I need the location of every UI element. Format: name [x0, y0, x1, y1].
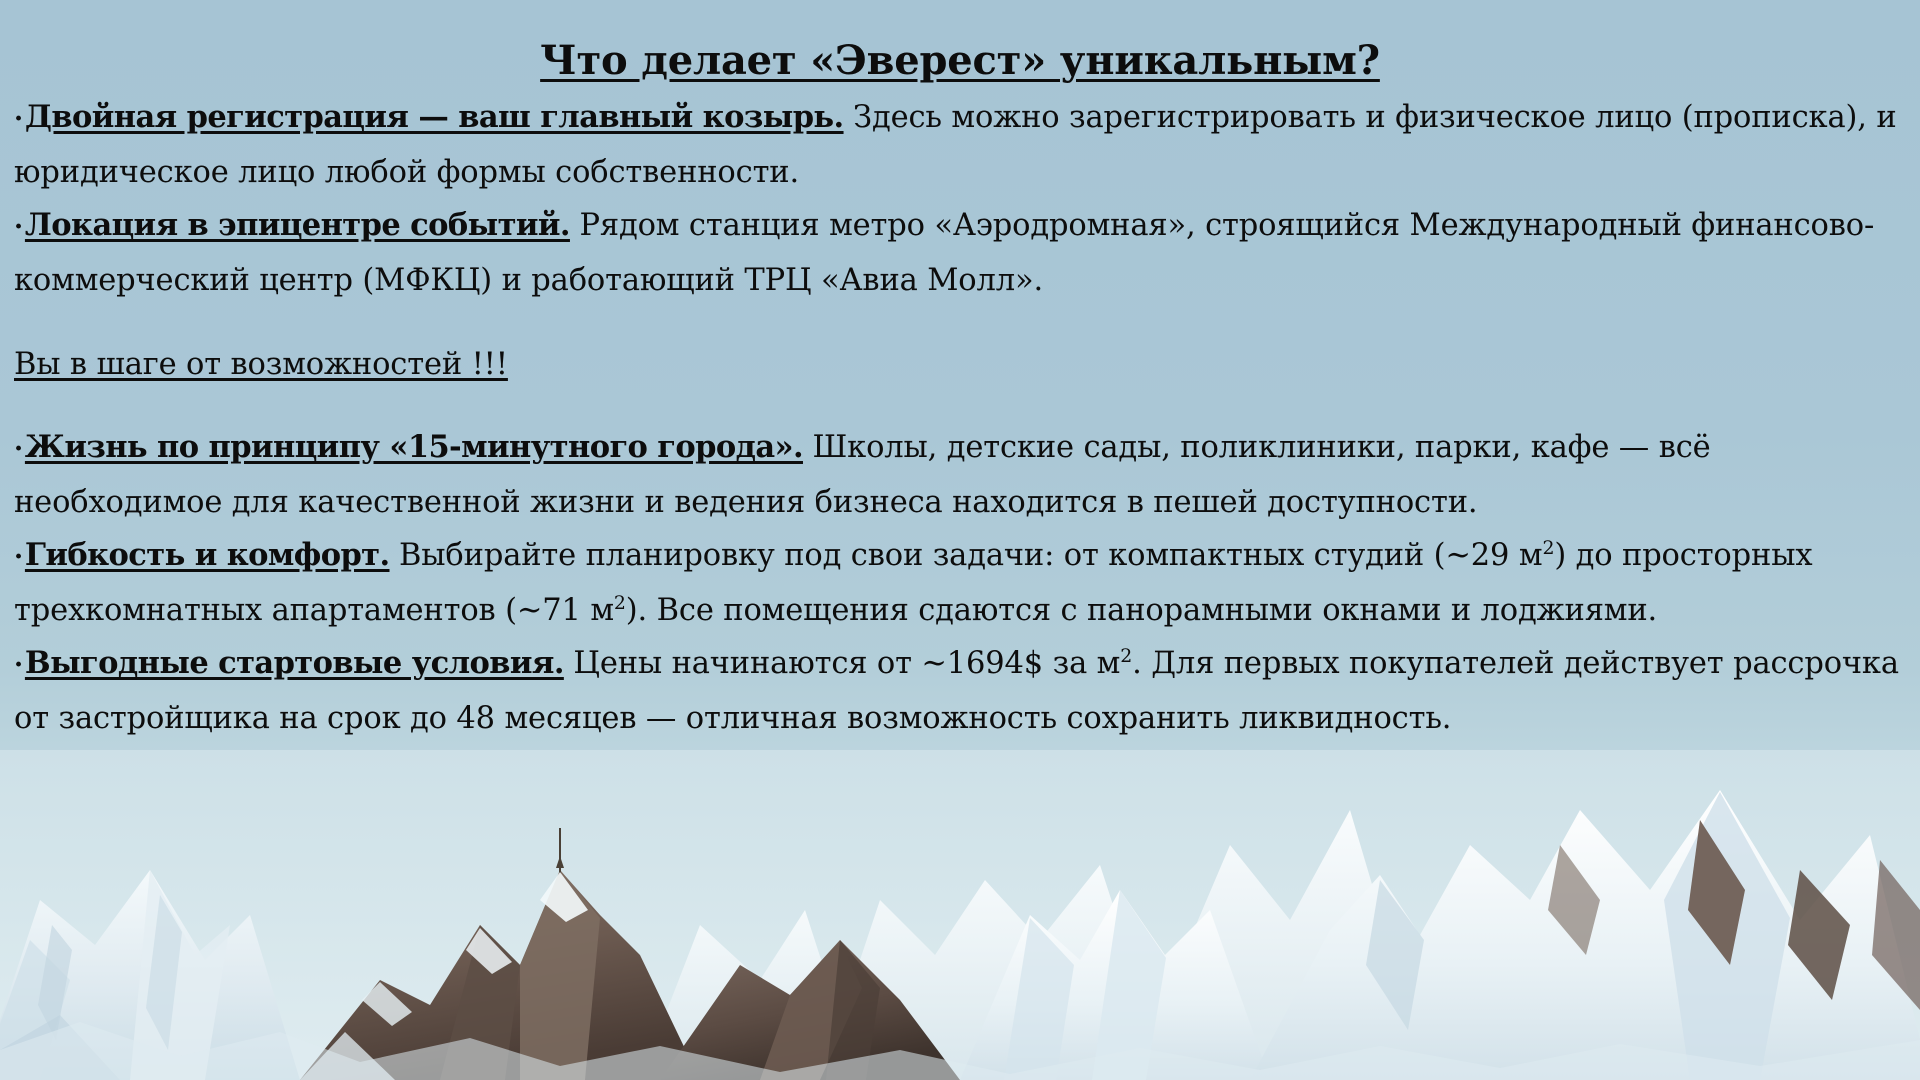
bullet-text-flexibility-post: ). Все помещения сдаются с панорамными о…	[626, 593, 1657, 628]
page-title: Что делает «Эверест» уникальным?	[0, 41, 1920, 81]
bullet-item-pricing: ·Выгодные стартовые условия. Цены начина…	[14, 637, 1902, 745]
slide-text-content: Что делает «Эверест» уникальным? ·Двойна…	[0, 0, 1920, 745]
bullet-marker: ·	[14, 542, 25, 572]
bullet-list: ·Двойная регистрация — ваш главный козыр…	[0, 91, 1920, 745]
bullet-item-location: ·Локация в эпицентре событий. Рядом стан…	[14, 199, 1902, 307]
bullet-lead-dual-registration: Двойная регистрация — ваш главный козырь…	[25, 99, 844, 135]
area-superscript-29: 2	[1542, 537, 1554, 559]
mountain-range-illustration	[0, 750, 1920, 1080]
bullet-marker: ·	[14, 104, 25, 134]
mountain-photo	[0, 750, 1920, 1080]
bullet-marker: ·	[14, 650, 25, 680]
bullet-lead-flexibility: Гибкость и комфорт.	[25, 537, 390, 573]
bullet-marker: ·	[14, 434, 25, 464]
callout-opportunity: Вы в шаге от возможностей !!!	[14, 338, 1902, 391]
bullet-item-15-minute-city: ·Жизнь по принципу «15-минутного города»…	[14, 421, 1902, 529]
bullet-marker: ·	[14, 212, 25, 242]
bullet-text-flexibility-pre: Выбирайте планировку под свои задачи: от…	[390, 538, 1543, 573]
presentation-slide: Что делает «Эверест» уникальным? ·Двойна…	[0, 0, 1920, 1080]
bullet-lead-pricing: Выгодные стартовые условия.	[25, 645, 564, 681]
bullet-item-dual-registration: ·Двойная регистрация — ваш главный козыр…	[14, 91, 1902, 199]
area-superscript-price: 2	[1120, 645, 1132, 667]
bullet-text-pricing-pre: Цены начинаются от ~1694$ за м	[564, 646, 1120, 681]
bullet-lead-15-minute-city: Жизнь по принципу «15-минутного города».	[25, 429, 803, 465]
bullet-item-flexibility: ·Гибкость и комфорт. Выбирайте планировк…	[14, 529, 1902, 637]
area-superscript-71: 2	[614, 592, 626, 614]
bullet-lead-location: Локация в эпицентре событий.	[25, 207, 570, 243]
